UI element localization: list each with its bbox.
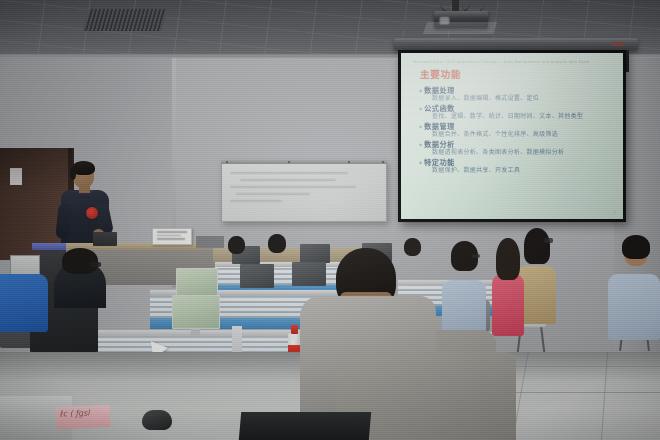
whiteboard-screw	[382, 161, 384, 163]
computer-mouse-overlay	[142, 410, 172, 430]
attendee-body	[492, 274, 524, 336]
ceiling-light-panel	[495, 2, 552, 17]
whiteboard-rail	[221, 160, 387, 164]
screen-shading	[401, 53, 623, 219]
attendee-hair	[524, 228, 550, 264]
screen-cord-right	[626, 50, 629, 72]
attendee-hair	[622, 235, 650, 259]
monitor-screen	[172, 295, 220, 329]
bottle-cap	[291, 325, 298, 334]
attendee-body	[0, 274, 48, 332]
blue-folder	[32, 243, 66, 250]
glasses-icon	[472, 254, 480, 258]
projection-screen: Microsoft Excel 2010 Application Trainin…	[398, 50, 626, 222]
screen-roller-tab	[612, 42, 624, 46]
classroom-photo: Microsoft Excel 2010 Application Trainin…	[0, 0, 660, 440]
monitor-screen	[176, 268, 218, 298]
attendee-head	[404, 238, 421, 256]
ceiling-vent-icon	[83, 9, 167, 31]
attendee-hair	[62, 248, 98, 274]
whiteboard-screw	[348, 161, 350, 163]
podium-sign	[152, 228, 192, 245]
glasses-icon	[544, 238, 553, 243]
glasses-icon	[90, 262, 101, 267]
computer-keyboard-overlay	[239, 412, 371, 440]
attendee-hair	[496, 238, 520, 280]
pink-note-text-overlay: ℓc ( ƒgsl	[60, 408, 90, 418]
monitor-back	[240, 264, 274, 288]
podium-equipment-box	[196, 236, 224, 248]
whiteboard-writing	[230, 172, 378, 212]
shirt-logo-icon	[86, 207, 98, 219]
attendee-head	[228, 236, 245, 254]
attendee-body	[608, 274, 660, 340]
whiteboard-screw	[226, 161, 228, 163]
attendee-head	[268, 234, 286, 253]
partition-top-rail	[66, 330, 306, 338]
screen-roller-casing	[394, 38, 638, 50]
presenter-hair-side	[70, 167, 76, 180]
monitor-back	[292, 262, 326, 286]
podium-laptop	[93, 232, 117, 246]
screen-surface: Microsoft Excel 2010 Application Trainin…	[401, 53, 623, 219]
whiteboard-screw	[288, 161, 290, 163]
monitor-back	[300, 244, 330, 263]
monitor-stand	[191, 329, 200, 336]
projector-light-beam	[423, 22, 497, 34]
